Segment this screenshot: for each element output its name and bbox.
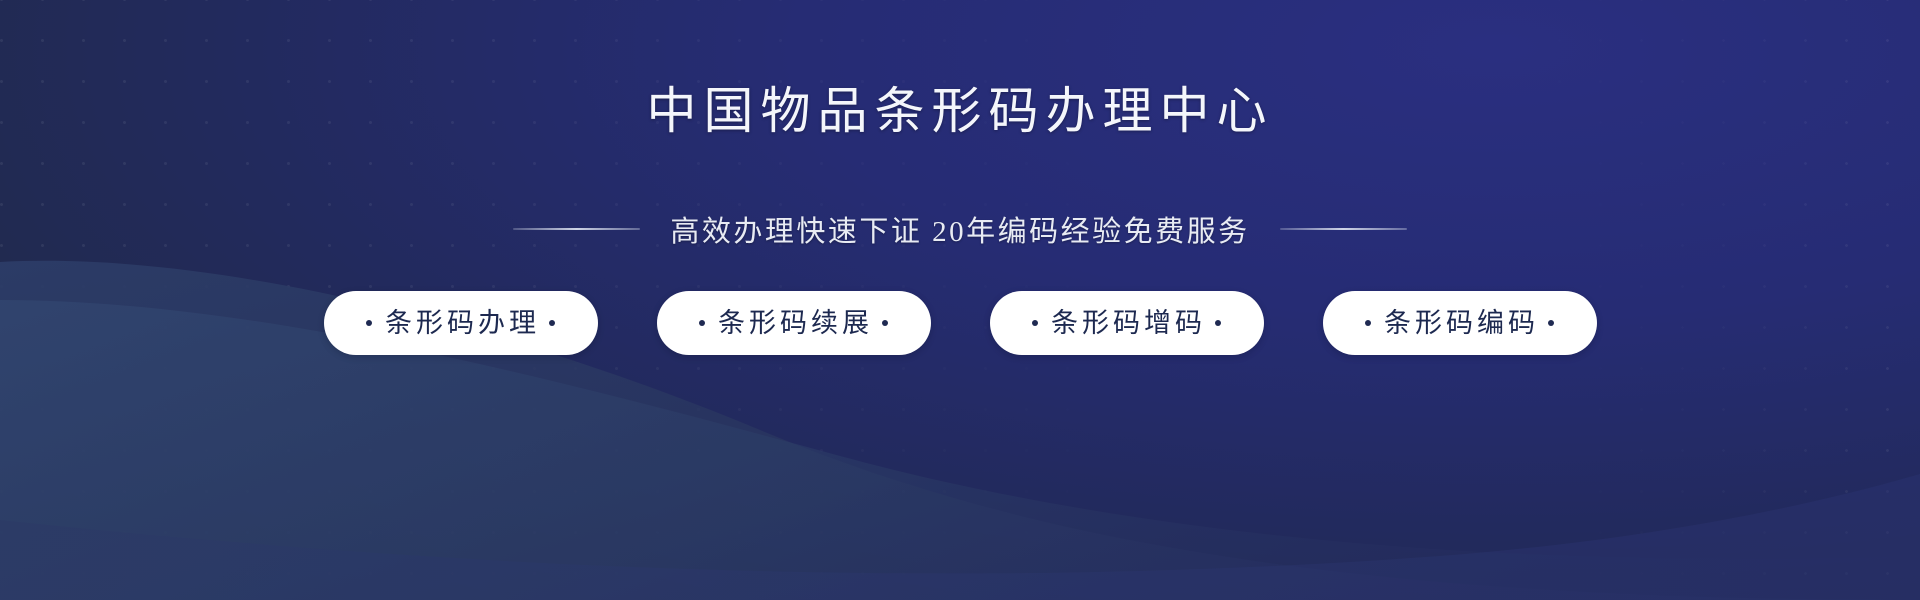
rule-left [513,228,640,230]
service-pill-bianma[interactable]: 条形码编码 [1323,291,1597,355]
service-pill-label: 条形码续展 [714,310,873,337]
bullet-dot-icon [549,320,555,326]
subtitle-row: 高效办理快速下证 20年编码经验免费服务 [513,208,1406,250]
bullet-dot-icon [1365,320,1371,326]
page-subtitle: 高效办理快速下证 20年编码经验免费服务 [670,208,1249,250]
bullet-dot-icon [1215,320,1221,326]
service-pill-label: 条形码编码 [1380,310,1539,337]
service-pill-banli[interactable]: 条形码办理 [324,291,598,355]
bullet-dot-icon [1548,320,1554,326]
service-pill-label: 条形码办理 [381,310,540,337]
service-pill-xuzhan[interactable]: 条形码续展 [657,291,931,355]
service-pill-zengma[interactable]: 条形码增码 [990,291,1264,355]
bullet-dot-icon [366,320,372,326]
hero-banner: 中国物品条形码办理中心 高效办理快速下证 20年编码经验免费服务 条形码办理 条… [0,0,1920,600]
service-pill-list: 条形码办理 条形码续展 条形码增码 条形码编码 [324,291,1597,355]
bullet-dot-icon [699,320,705,326]
service-pill-label: 条形码增码 [1047,310,1206,337]
bullet-dot-icon [882,320,888,326]
page-title: 中国物品条形码办理中心 [647,86,1274,136]
rule-right [1280,228,1407,230]
bullet-dot-icon [1032,320,1038,326]
